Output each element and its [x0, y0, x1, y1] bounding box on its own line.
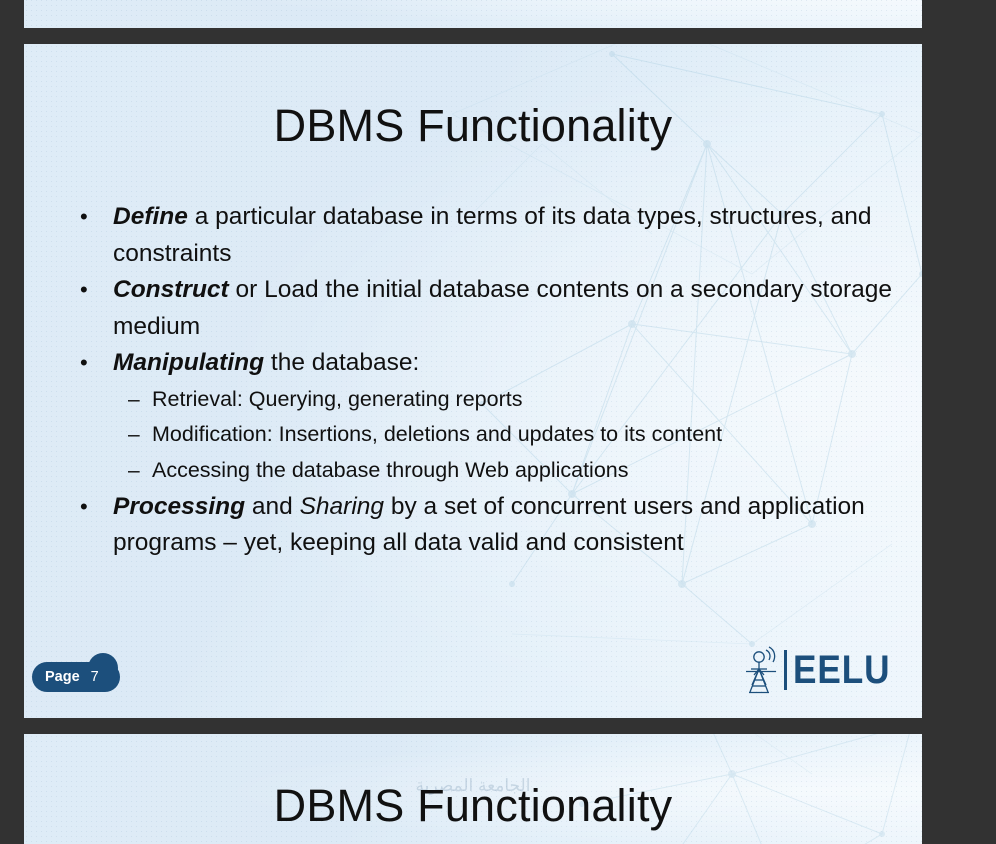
slide-viewer[interactable]: DBMS Functionality • Define a particular…: [0, 0, 996, 838]
bullet-marker-icon: •: [80, 199, 113, 235]
network-mesh-decoration: [482, 0, 922, 28]
list-item: • Processing and Sharing by a set of con…: [80, 489, 892, 562]
page-title: DBMS Functionality: [24, 100, 922, 152]
page-number: 7: [91, 669, 99, 685]
list-item: – Modification: Insertions, deletions an…: [128, 417, 892, 453]
list-item: • Construct or Load the initial database…: [80, 272, 892, 345]
list-item: – Retrieval: Querying, generating report…: [128, 382, 892, 418]
current-slide[interactable]: DBMS Functionality • Define a particular…: [24, 44, 922, 718]
next-slide-title: DBMS Functionality: [24, 780, 922, 832]
emphasis-term: Define: [113, 203, 188, 230]
list-item-text: Define a particular database in terms of…: [113, 199, 892, 272]
list-item: • Define a particular database in terms …: [80, 199, 892, 272]
list-item-text: Modification: Insertions, deletions and …: [152, 417, 892, 452]
list-item-rest: a particular database in terms of its da…: [113, 203, 872, 267]
emphasis-term: Processing: [113, 493, 245, 520]
list-item: – Accessing the database through Web app…: [128, 453, 892, 489]
logo-wordmark: EELU: [793, 650, 890, 690]
emphasis-term-secondary: Sharing: [300, 493, 384, 520]
broadcast-tower-icon: [744, 645, 778, 695]
logo-divider: [784, 650, 787, 690]
bullet-marker-icon: •: [80, 489, 113, 525]
list-item-conj: and: [245, 493, 300, 520]
list-item-rest: the database:: [264, 349, 419, 376]
list-item-text: Processing and Sharing by a set of concu…: [113, 489, 892, 562]
emphasis-term: Construct: [113, 276, 229, 303]
badge-pill: Page 7: [32, 662, 120, 692]
list-item-text: Accessing the database through Web appli…: [152, 453, 892, 488]
page-label: Page: [45, 669, 80, 685]
sub-bullet-marker-icon: –: [128, 453, 152, 489]
next-slide[interactable]: الجامعة المصرية DBMS Functionality: [24, 734, 922, 844]
list-item: • Manipulating the database:: [80, 345, 892, 382]
sub-bullet-marker-icon: –: [128, 417, 152, 453]
previous-slide[interactable]: [24, 0, 922, 28]
emphasis-term: Manipulating: [113, 349, 264, 376]
list-item-text: Construct or Load the initial database c…: [113, 272, 892, 345]
list-item-text: Retrieval: Querying, generating reports: [152, 382, 892, 417]
eelu-logo: EELU: [744, 644, 904, 696]
bullet-list: • Define a particular database in terms …: [64, 199, 892, 562]
list-item-rest: or Load the initial database contents on…: [113, 276, 892, 340]
list-item-text: Manipulating the database:: [113, 345, 892, 382]
page-number-badge: Page 7: [32, 662, 120, 692]
bullet-marker-icon: •: [80, 345, 113, 381]
sub-bullet-marker-icon: –: [128, 382, 152, 418]
bullet-marker-icon: •: [80, 272, 113, 308]
